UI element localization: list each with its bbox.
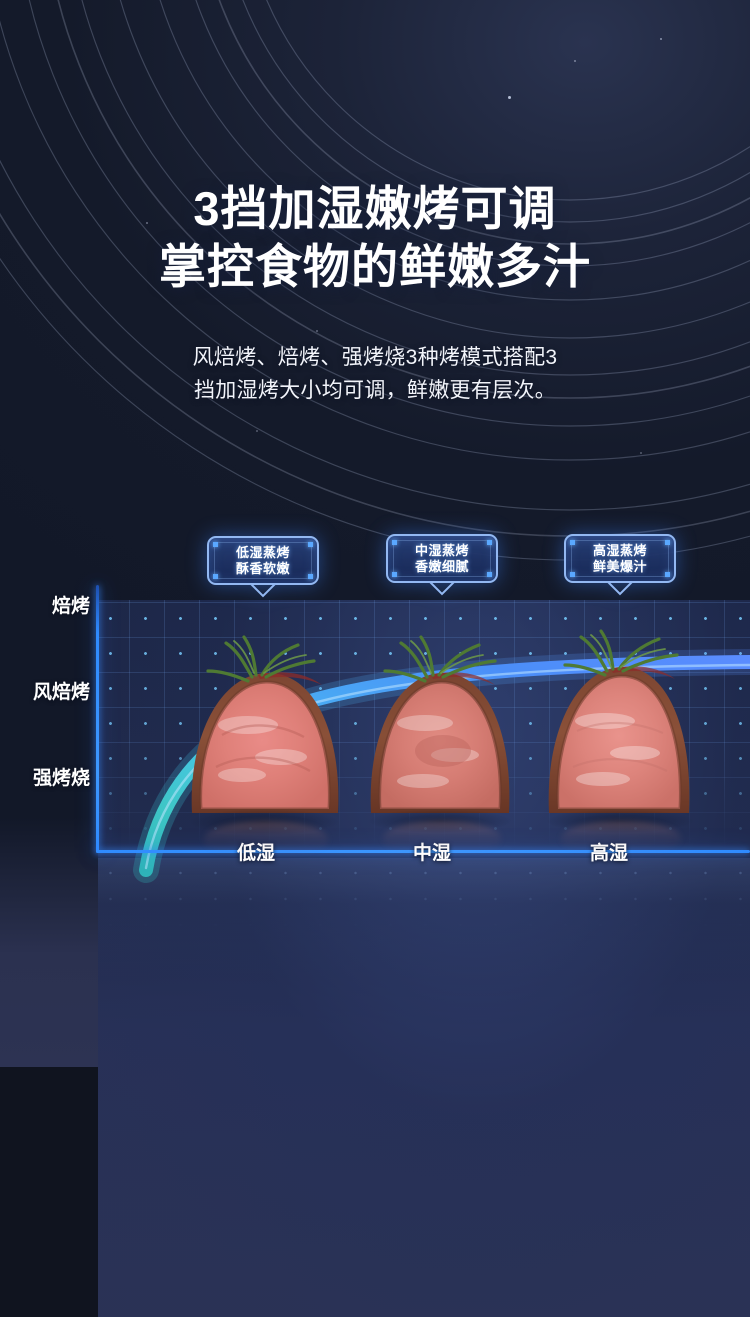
callout-line-1: 高湿蒸烤 — [570, 543, 670, 559]
corner-marker-icon — [570, 540, 575, 545]
corner-marker-icon — [665, 540, 670, 545]
y-axis-label-2: 强烤烧 — [33, 763, 90, 790]
sparkle-dot — [640, 452, 642, 454]
callout-pointer-icon — [564, 581, 676, 596]
corner-marker-icon — [308, 542, 313, 547]
corner-marker-icon — [487, 572, 492, 577]
page-title-line-1: 3挡加湿嫩烤可调 — [0, 180, 750, 238]
sparkle-dot — [256, 430, 258, 432]
corner-marker-icon — [570, 572, 575, 577]
rosemary-garnish — [385, 637, 495, 681]
corner-marker-icon — [487, 540, 492, 545]
corner-marker-icon — [665, 572, 670, 577]
page-subtitle-line-1: 风焙烤、焙烤、强烤烧3种烤模式搭配3 — [0, 341, 750, 374]
sparkle-dot — [316, 330, 318, 332]
sparkle-dot — [574, 60, 576, 62]
corner-marker-icon — [392, 540, 397, 545]
callout-line-2: 鲜美爆汁 — [570, 559, 670, 575]
page-subtitle: 风焙烤、焙烤、强烤烧3种烤模式搭配3 挡加湿烤大小均可调，鲜嫩更有层次。 — [0, 341, 750, 407]
steak-medium-humidity — [365, 631, 517, 837]
humidity-roast-chart: 焙烤 风焙烤 强烤烧 低湿 中湿 高湿 — [0, 505, 750, 885]
callout-pointer-icon — [207, 583, 319, 598]
sparkle-dot — [660, 38, 662, 40]
callout-line-2: 香嫩细腻 — [392, 559, 492, 575]
callout-pointer-icon — [386, 581, 498, 596]
callout-box: 高湿蒸烤 鲜美爆汁 — [564, 534, 676, 583]
callout-high-humidity[interactable]: 高湿蒸烤 鲜美爆汁 — [564, 534, 676, 596]
callout-line-2: 酥香软嫩 — [213, 561, 313, 577]
callout-box: 低湿蒸烤 酥香软嫩 — [207, 536, 319, 585]
page-title: 3挡加湿嫩烤可调 掌控食物的鲜嫩多汁 — [0, 180, 750, 296]
steak-low-humidity — [186, 629, 346, 839]
corner-marker-icon — [213, 542, 218, 547]
y-axis-label-0: 焙烤 — [52, 591, 90, 618]
rosemary-garnish — [565, 631, 677, 675]
callout-low-humidity[interactable]: 低湿蒸烤 酥香软嫩 — [207, 536, 319, 598]
y-axis-label-1: 风焙烤 — [33, 677, 90, 704]
callout-line-1: 中湿蒸烤 — [392, 543, 492, 559]
corner-marker-icon — [392, 572, 397, 577]
steak-high-humidity — [543, 627, 699, 837]
callout-box: 中湿蒸烤 香嫩细腻 — [386, 534, 498, 583]
page-subtitle-line-2: 挡加湿烤大小均可调，鲜嫩更有层次。 — [0, 374, 750, 407]
callout-line-1: 低湿蒸烤 — [213, 545, 313, 561]
corner-marker-icon — [308, 574, 313, 579]
chart-y-axis — [96, 585, 99, 853]
sparkle-dot — [508, 96, 511, 99]
callout-medium-humidity[interactable]: 中湿蒸烤 香嫩细腻 — [386, 534, 498, 596]
corner-marker-icon — [213, 574, 218, 579]
page-title-line-2: 掌控食物的鲜嫩多汁 — [0, 238, 750, 296]
